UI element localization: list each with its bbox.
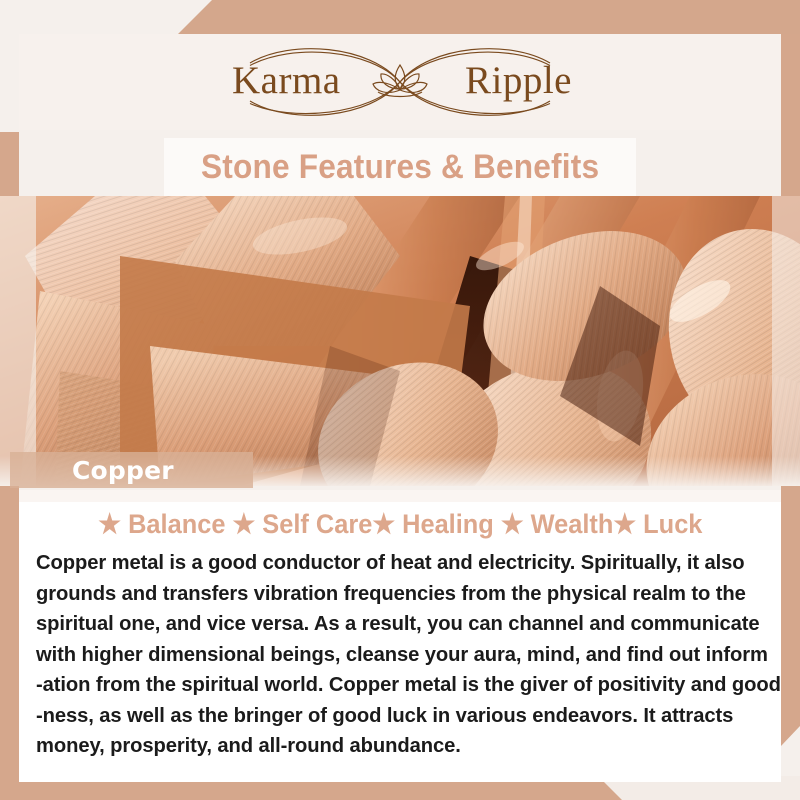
top-frame-band bbox=[0, 0, 800, 34]
description-line: with higher dimensional beings, cleanse … bbox=[36, 640, 755, 671]
panel-top-tint bbox=[19, 490, 781, 502]
copper-bars-photo bbox=[0, 196, 800, 486]
photo-caption-bar: Copper bbox=[10, 452, 253, 488]
page-title: Stone Features & Benefits bbox=[201, 148, 599, 187]
photo-caption-label: Copper bbox=[72, 456, 174, 485]
description-line: -ness, as well as the bringer of good lu… bbox=[36, 701, 755, 732]
keyword-list: ★ Balance ★ Self Care★ Healing ★ Wealth★… bbox=[19, 506, 781, 542]
title-banner: Stone Features & Benefits bbox=[164, 138, 636, 196]
photo-artwork bbox=[0, 196, 800, 486]
content-panel: ★ Balance ★ Self Care★ Healing ★ Wealth★… bbox=[19, 490, 781, 782]
brand-logo: Karma Ripple bbox=[19, 40, 781, 124]
description-text: Copper metal is a good conductor of heat… bbox=[36, 548, 766, 762]
description-line: spiritual one, and vice versa. As a resu… bbox=[36, 609, 755, 640]
header: Karma Ripple bbox=[19, 34, 781, 130]
description-line: -ation from the spiritual world. Copper … bbox=[36, 670, 755, 701]
photo-right-tint bbox=[772, 196, 800, 486]
description-line: Copper metal is a good conductor of heat… bbox=[36, 548, 755, 579]
brand-name-left: Karma bbox=[232, 59, 341, 103]
infographic-page: Karma Ripple Stone Features & Benefits bbox=[0, 0, 800, 800]
keyword-line: ★ Balance ★ Self Care★ Healing ★ Wealth★… bbox=[98, 509, 702, 540]
brand-name-right: Ripple bbox=[465, 59, 572, 103]
description-line: money, prosperity, and all-round abundan… bbox=[36, 731, 755, 762]
photo-left-tint bbox=[0, 196, 36, 486]
description-line: grounds and transfers vibration frequenc… bbox=[36, 579, 755, 610]
